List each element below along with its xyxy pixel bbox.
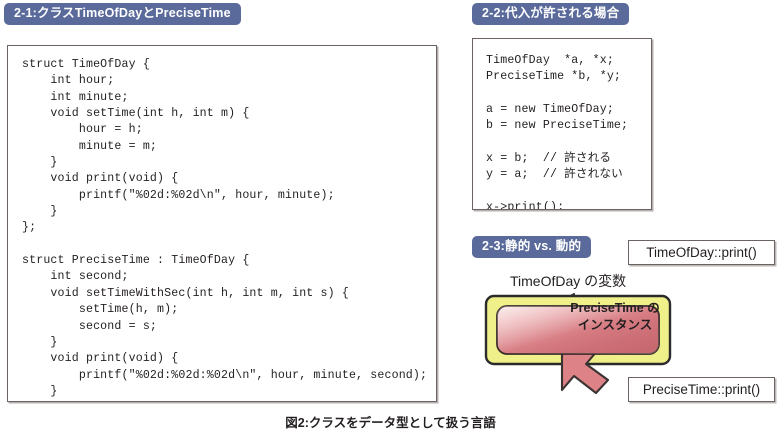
figure-caption: 図2:クラスをデータ型として扱う言語 xyxy=(0,412,781,431)
code-text-assignment: TimeOfDay *a, *x; PreciseTime *b, *y; a … xyxy=(473,39,651,210)
section-badge-2-1: 2-1:クラスTimeOfDayとPreciseTime xyxy=(4,3,241,25)
section-badge-2-2: 2-2:代入が許される場合 xyxy=(472,3,629,25)
precisetime-instance-label: PreciseTime の インスタンス xyxy=(545,300,685,334)
instance-label-line2: インスタンス xyxy=(578,318,653,332)
code-block-classes: struct TimeOfDay { int hour; int minute;… xyxy=(7,45,437,402)
instance-label-line1: PreciseTime の xyxy=(570,301,659,315)
code-text-classes: struct TimeOfDay { int hour; int minute;… xyxy=(8,46,436,402)
timeofday-variable-label: TimeOfDay の変数 xyxy=(510,271,626,291)
code-block-assignment: TimeOfDay *a, *x; PreciseTime *b, *y; a … xyxy=(472,38,652,210)
